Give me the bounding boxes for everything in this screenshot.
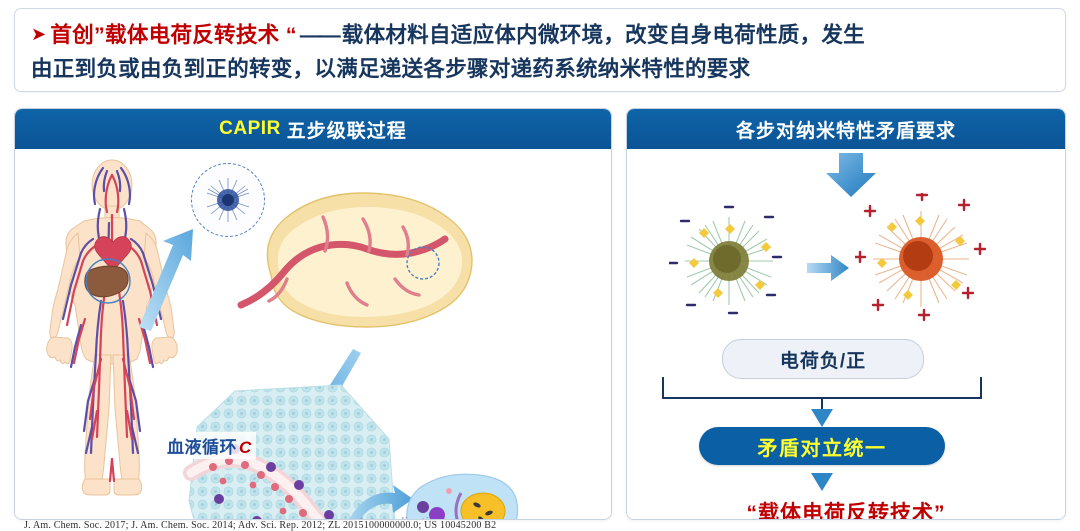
header-desc-line-1: 载体材料自适应体内微环境，改变自身电荷性质，发生 [342,23,865,47]
header-callout-box: ➤首创”载体电荷反转技术 “——载体材料自适应体内微环境，改变自身电荷性质，发生… [14,8,1066,92]
capir-cascade-panel: CAPIR五步级联过程 [14,108,612,520]
capir-panel-header: CAPIR五步级联过程 [15,109,611,149]
contradiction-panel-body: 电荷负/正 矛盾对立统一 “载体电荷反转技术” [627,149,1065,519]
header-em-dash: —— [297,23,342,47]
transform-arrow-icon [805,253,851,283]
down-arrow-small-icon [809,407,835,429]
contradiction-panel-title: 各步对纳米特性矛盾要求 [736,116,956,143]
positive-charge-nanoparticle-icon [855,193,987,325]
label-blood-circulation: 血液循环C [163,432,256,459]
blood-circulation-arrow-icon [133,227,223,333]
bracket-left-line [662,377,664,398]
capir-title-main: 五步级联过程 [287,116,407,143]
header-desc-line-2: 由正到负或由负到正的转变，以满足递送各步骤对递药系统纳米特性的要求 [31,52,1053,86]
capir-title-accent: CAPIR [219,118,281,140]
capir-panel-body: 血液循环C 肿瘤蓄积A 瘤内渗透P Internalization 细胞内吞I … [15,149,611,519]
cell-internalization-figure [403,471,521,520]
label-letter-c: C [239,438,252,457]
negative-charge-nanoparticle-icon [669,201,789,321]
charge-reversal-technology-label: “载体电荷反转技术” [627,497,1065,520]
unity-of-opposites-label: 矛盾对立统一 [758,432,887,461]
bracket-right-line [980,377,982,398]
down-arrow-small-icon-2 [809,471,835,493]
down-arrow-large-icon [823,151,879,199]
nano-property-contradiction-panel: 各步对纳米特性矛盾要求 [626,108,1066,520]
unity-of-opposites-badge: 矛盾对立统一 [699,427,945,465]
charge-state-badge: 电荷负/正 [722,339,924,379]
contradiction-panel-header: 各步对纳米特性矛盾要求 [627,109,1065,149]
tumor-blood-vessel-figure [227,183,497,353]
header-line-1: ➤首创”载体电荷反转技术 “——载体材料自适应体内微环境，改变自身电荷性质，发生 [31,17,1053,52]
reference-citation-text: J. Am. Chem. Soc. 2017; J. Am. Chem. Soc… [24,520,496,531]
charge-state-label: 电荷负/正 [780,346,866,373]
arrow-right-bullet-icon: ➤ [31,24,46,44]
header-title-red: 首创”载体电荷反转技术 “ [50,23,296,47]
